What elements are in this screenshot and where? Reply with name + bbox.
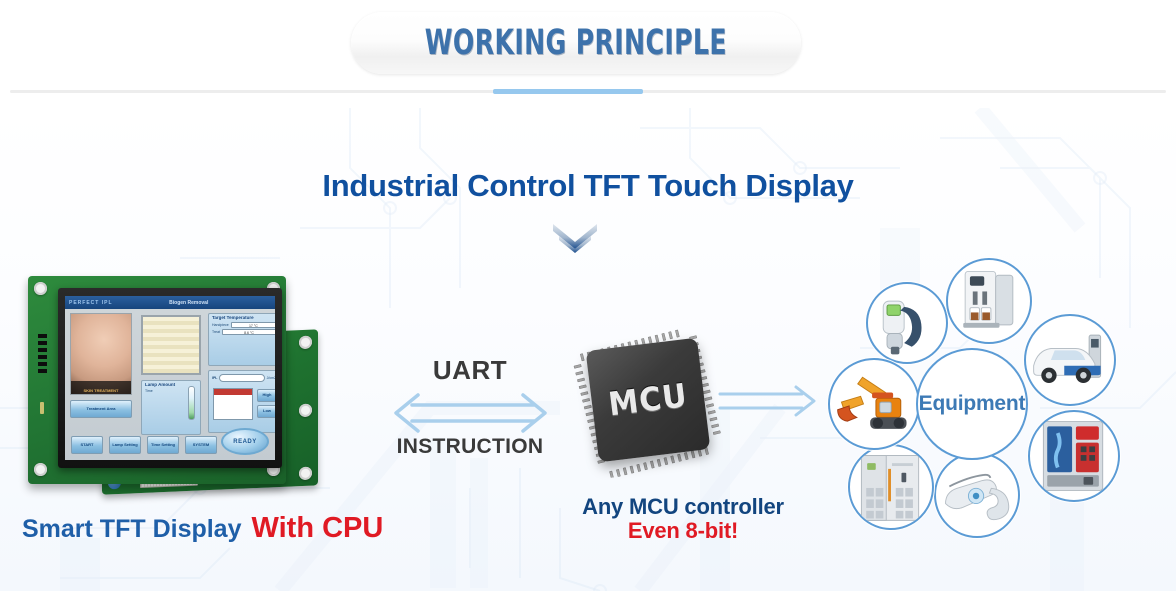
pcb-front-board: PERFECT IPL Biogen Removal SKIN TREATMEN…	[28, 276, 286, 484]
mcu-chip-label: MCU	[606, 376, 689, 423]
screen-temp-label-2: Treat	[212, 330, 220, 334]
equipment-circle-industrial-cabinet[interactable]	[848, 444, 934, 530]
equipment-circle-beauty-equipment[interactable]	[934, 452, 1020, 538]
uart-label: UART	[380, 355, 560, 386]
screen-temp-value-2[interactable]: 8.6 °C	[222, 329, 275, 335]
coffee-machine-icon	[948, 260, 1030, 342]
screen-ready-button[interactable]: READY	[221, 428, 269, 455]
screen-temp-value-1[interactable]: 17 °C	[231, 322, 275, 328]
excavator-icon	[830, 360, 918, 448]
screen-ipl-value[interactable]	[219, 374, 264, 382]
equipment-circle-electric-vehicle-charging[interactable]	[1024, 314, 1116, 406]
page-title-pill: WORKING PRINCIPLE	[351, 12, 801, 74]
screen-titlebar: PERFECT IPL Biogen Removal	[65, 296, 275, 309]
equipment-center-label: Equipment	[919, 392, 1026, 416]
smart-tft-display-caption: Smart TFT Display	[22, 515, 242, 544]
equipment-circle-coffee-machine[interactable]	[946, 258, 1032, 344]
screen-button-lamp-setting[interactable]: Lamp Setting	[109, 436, 141, 454]
screen-ipl-graph	[213, 388, 253, 420]
lcd-bezel: PERFECT IPL Biogen Removal SKIN TREATMEN…	[58, 288, 282, 468]
uart-connection-group: UART INSTRUCTION	[380, 355, 560, 470]
pcb-side-pins	[38, 334, 47, 373]
equipment-center-circle: Equipment	[916, 348, 1028, 460]
screen-low-button[interactable]: Low	[257, 405, 275, 418]
industrial-cabinet-icon	[850, 446, 932, 528]
screen-button-time-setting[interactable]: Time Setting	[147, 436, 179, 454]
equipment-circle-medical-laser-device[interactable]	[866, 282, 948, 364]
left-caption-group: Smart TFT Display With CPU	[22, 512, 383, 545]
with-cpu-caption: With CPU	[252, 512, 384, 545]
vending-machine-icon	[1030, 412, 1118, 500]
screen-temperature-title: Target Temperature	[209, 314, 275, 321]
screen-ipl-panel: IPL J/cm2 High Low	[208, 370, 275, 433]
working-principle-slide: WORKING PRINCIPLE Industrial Control TFT…	[0, 0, 1176, 591]
medical-laser-device-icon	[868, 284, 946, 362]
lcd-screen[interactable]: PERFECT IPL Biogen Removal SKIN TREATMEN…	[65, 296, 275, 460]
screen-ipl-row: IPL J/cm2	[209, 374, 275, 382]
even-8-bit-caption: Even 8-bit!	[543, 518, 823, 544]
equipment-circle-vending-machine[interactable]	[1028, 410, 1120, 502]
header-divider-accent	[493, 89, 643, 94]
any-mcu-controller-caption: Any MCU controller	[543, 494, 823, 520]
screen-patient-photo: SKIN TREATMENT	[70, 313, 132, 395]
screen-temp-label-1: Handpiece	[212, 323, 229, 327]
pcb-front-hole-bl	[34, 463, 47, 476]
screen-button-start[interactable]: START	[71, 436, 103, 454]
screen-energy-gauge	[188, 386, 195, 420]
screen-photo-label: SKIN TREATMENT	[71, 388, 131, 393]
screen-ipl-graph-header	[214, 389, 252, 395]
instruction-label: INSTRUCTION	[371, 435, 569, 459]
arrow-right-icon	[718, 385, 818, 417]
screen-lamp-panel: Lamp Amount Time	[141, 380, 201, 435]
mcu-chip: MCU	[586, 338, 711, 463]
screen-mode-label: Biogen Removal	[169, 300, 208, 306]
screen-treatment-area-button[interactable]: Treatment Area	[70, 400, 132, 418]
screen-high-button[interactable]: High	[257, 389, 275, 402]
pcb-front-hole-tl	[34, 282, 47, 295]
smart-tft-display-module: PERFECT IPL Biogen Removal SKIN TREATMEN…	[16, 272, 346, 497]
screen-temperature-panel: Target Temperature Handpiece 17 °C Treat…	[208, 313, 275, 366]
pcb-mount-hole-br	[299, 467, 312, 481]
pcb-front-smd	[40, 402, 44, 414]
mcu-caption-group: Any MCU controller Even 8-bit!	[543, 494, 823, 544]
page-title: WORKING PRINCIPLE	[425, 23, 727, 63]
screen-brand-label: PERFECT IPL	[69, 300, 113, 306]
mcu-group: MCU	[578, 332, 728, 472]
screen-button-system[interactable]: SYSTEM	[185, 436, 217, 454]
electric-vehicle-charging-icon	[1026, 316, 1114, 404]
screen-lamp-sub-label: Time	[145, 389, 153, 393]
equipment-cluster: Equipment	[828, 258, 1168, 540]
pcb-mount-hole-tr	[299, 336, 312, 350]
screen-ipl-unit: J/cm2	[267, 376, 275, 380]
equipment-circle-excavator[interactable]	[828, 358, 920, 450]
screen-treatment-grid	[141, 315, 201, 375]
bidirectional-arrow-icon	[388, 391, 553, 435]
chevron-down-icon	[545, 218, 605, 258]
screen-ipl-title: IPL	[212, 376, 217, 380]
screen-temperature-row-1: Handpiece 17 °C	[209, 322, 275, 328]
pcb-mount-hole-mr	[299, 404, 312, 418]
beauty-equipment-icon	[936, 454, 1018, 536]
subtitle: Industrial Control TFT Touch Display	[0, 168, 1176, 204]
screen-temperature-row-2: Treat 8.6 °C	[209, 329, 275, 335]
